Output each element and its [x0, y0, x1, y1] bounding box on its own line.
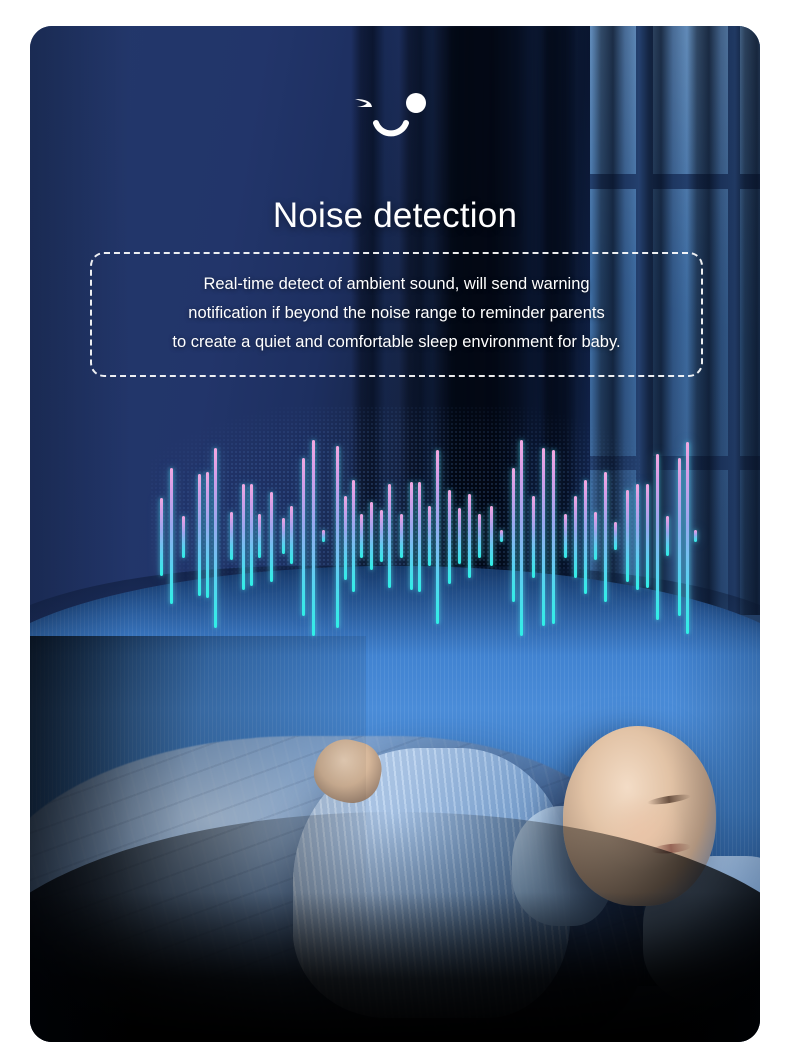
waveform-bar — [302, 458, 305, 616]
waveform-bar — [282, 518, 285, 554]
waveform-bar — [344, 496, 347, 580]
waveform-bar — [170, 468, 173, 604]
waveform-bar — [532, 496, 535, 578]
waveform-bar — [352, 480, 355, 592]
waveform-bar — [436, 450, 439, 624]
waveform-bar — [388, 484, 391, 588]
card-content: Noise detection Real-time detect of ambi… — [30, 26, 760, 1042]
waveform-bar — [258, 514, 261, 558]
waveform-bar — [230, 512, 233, 560]
waveform-bar — [678, 458, 681, 616]
waveform-bar — [312, 440, 315, 636]
page-title: Noise detection — [30, 196, 760, 236]
waveform-bar — [336, 446, 339, 628]
waveform-bar — [160, 498, 163, 576]
waveform-bar — [290, 506, 293, 564]
waveform-bar — [500, 530, 503, 542]
waveform-bar — [360, 514, 363, 558]
winking-face-icon — [345, 88, 445, 146]
waveform-bar — [428, 506, 431, 566]
waveform-bar — [686, 442, 689, 634]
description-box: Real-time detect of ambient sound, will … — [90, 252, 703, 377]
waveform-bar — [250, 484, 253, 586]
waveform-bar — [520, 440, 523, 636]
waveform-bar — [206, 472, 209, 598]
waveform-bar — [574, 496, 577, 578]
waveform-bar — [626, 490, 629, 582]
waveform-bar — [490, 506, 493, 566]
waveform-bar — [448, 490, 451, 584]
description-text: Real-time detect of ambient sound, will … — [102, 270, 691, 357]
waveform-bar — [604, 472, 607, 602]
noise-detection-card: Noise detection Real-time detect of ambi… — [30, 26, 760, 1042]
waveform-bar — [410, 482, 413, 590]
waveform-bar — [656, 454, 659, 620]
waveform-bar — [564, 514, 567, 558]
waveform-bar — [400, 514, 403, 558]
waveform-bar — [594, 512, 597, 560]
waveform-bar — [584, 480, 587, 594]
waveform-bar — [552, 450, 555, 624]
waveform-bar — [614, 522, 617, 550]
waveform-bar — [270, 492, 273, 582]
waveform-bar — [182, 516, 185, 558]
waveform-bar — [214, 448, 217, 628]
waveform-bar — [542, 448, 545, 626]
waveform-bar — [636, 484, 639, 590]
waveform-bar — [380, 510, 383, 562]
waveform-bar — [418, 482, 421, 592]
waveform-bar — [458, 508, 461, 564]
waveform-bar — [468, 494, 471, 578]
waveform-bar — [512, 468, 515, 602]
waveform-bar — [694, 530, 697, 542]
waveform-bar — [322, 530, 325, 542]
waveform-bar — [478, 514, 481, 558]
waveform-bar — [198, 474, 201, 596]
waveform-bar — [242, 484, 245, 590]
audio-waveform — [160, 441, 700, 626]
waveform-bar — [646, 484, 649, 588]
waveform-bar — [370, 502, 373, 570]
waveform-bar — [666, 516, 669, 556]
